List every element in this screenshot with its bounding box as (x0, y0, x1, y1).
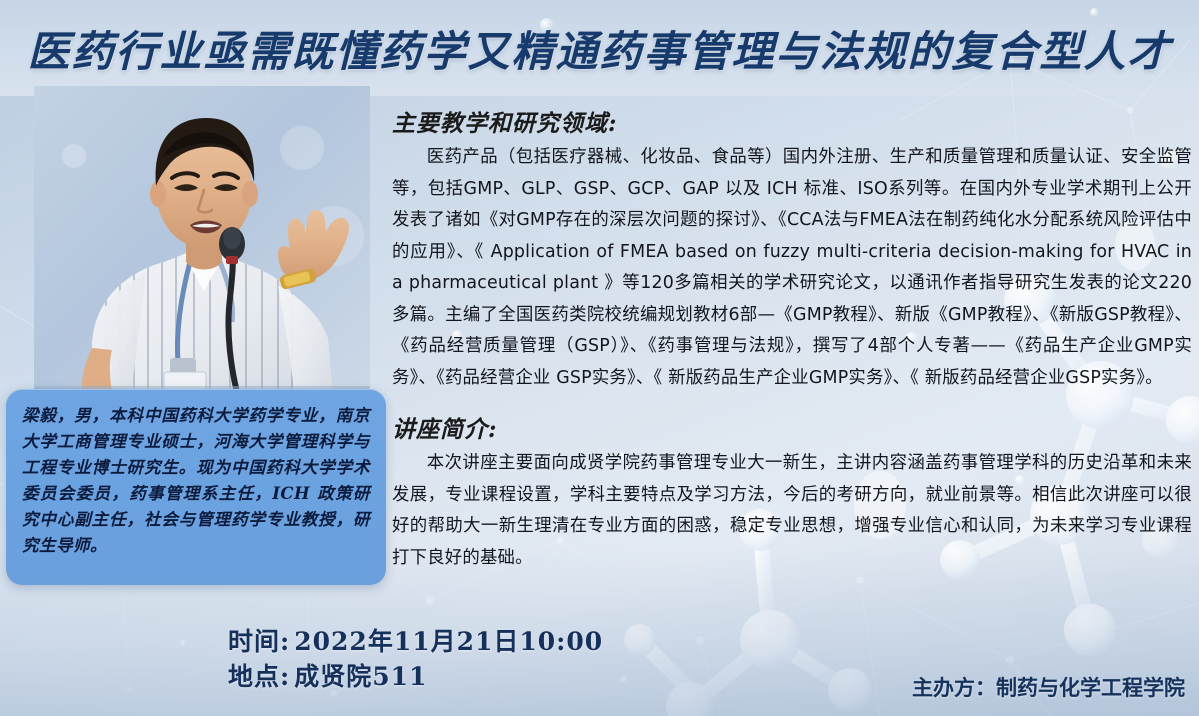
speaker-bio-box: 梁毅，男，本科中国药科大学药学专业，南京大学工商管理专业硕士，河海大学管理科学与… (6, 389, 386, 585)
speaker-bio-text: 梁毅，男，本科中国药科大学药学专业，南京大学工商管理专业硕士，河海大学管理科学与… (22, 403, 370, 559)
event-time-label: 时间: (228, 627, 290, 656)
poster-title-band: 医药行业亟需既懂药学又精通药事管理与法规的复合型人才 (0, 20, 1199, 76)
speaker-photo (34, 86, 370, 404)
event-place-row: 地点:成贤院511 (228, 659, 603, 694)
event-place-value: 成贤院511 (294, 662, 427, 691)
section-spacer (392, 394, 1192, 410)
section-heading-research: 主要教学和研究领域: (392, 104, 1192, 138)
section-body-research: 医药产品（包括医疗器械、化妆品、食品等）国内外注册、生产和质量管理和质量认证、安… (392, 142, 1192, 394)
poster-content: 主要教学和研究领域: 医药产品（包括医疗器械、化妆品、食品等）国内外注册、生产和… (392, 104, 1192, 574)
section-body-lecture-intro: 本次讲座主要面向成贤学院药事管理专业大一新生，主讲内容涵盖药事管理学科的历史沿革… (392, 448, 1192, 574)
event-place-label: 地点: (228, 662, 290, 691)
event-time-value: 2022年11月21日10:00 (294, 627, 603, 656)
poster-title: 医药行业亟需既懂药学又精通药事管理与法规的复合型人才 (27, 18, 1171, 79)
event-details: 时间:2022年11月21日10:00 地点:成贤院511 (228, 624, 603, 694)
speaker-photo-image (34, 86, 370, 404)
event-time-row: 时间:2022年11月21日10:00 (228, 624, 603, 659)
section-heading-lecture-intro: 讲座简介: (392, 410, 1192, 444)
host-organization: 主办方：制药与化学工程学院 (912, 672, 1185, 702)
lecture-poster: 医药行业亟需既懂药学又精通药事管理与法规的复合型人才 (0, 0, 1199, 716)
